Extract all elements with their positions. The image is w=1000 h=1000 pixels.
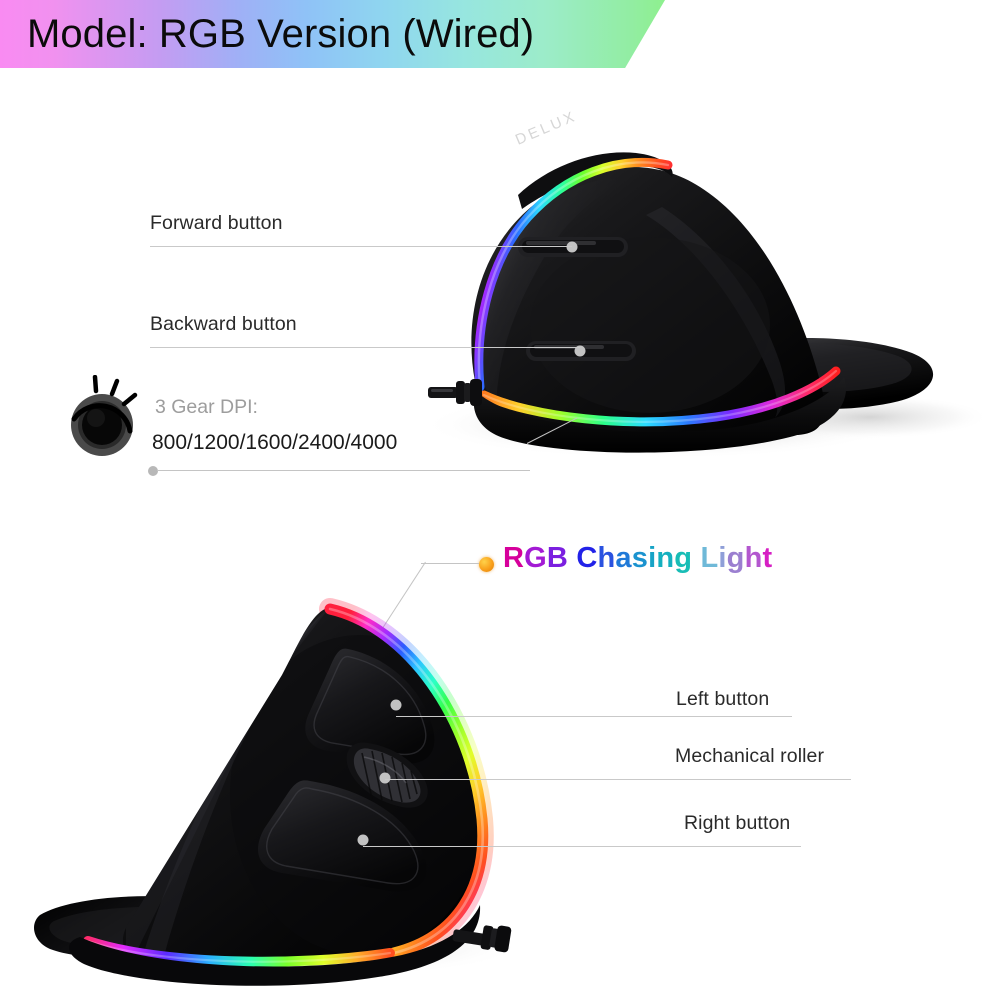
callout-label-backward-button: Backward button xyxy=(150,313,297,336)
callout-label-forward-button: Forward button xyxy=(150,212,283,235)
rgb-title-letter-3 xyxy=(568,542,576,575)
rgb-chasing-light-title: RGB Chasing Light xyxy=(503,542,772,575)
bottom-product-image xyxy=(30,585,560,985)
dpi-sensor-icon xyxy=(62,375,148,461)
callout-rule-backward-button xyxy=(150,347,580,348)
leader-dot-forward xyxy=(567,242,578,253)
callout-rule-right-button xyxy=(363,846,801,847)
rgb-title-letter-10: g xyxy=(674,542,692,575)
rgb-title-letter-6: a xyxy=(615,542,631,575)
infographic-canvas: Model: RGB Version (Wired) xyxy=(0,0,1000,1000)
top-product-image: DELUX xyxy=(400,95,960,465)
callout-rule-left-button xyxy=(396,716,792,717)
rgb-title-letter-4: C xyxy=(576,542,597,575)
leader-dot-left-button xyxy=(391,700,402,711)
rgb-title-letter-8: i xyxy=(648,542,656,575)
rgb-title-letter-12: L xyxy=(700,542,718,575)
rgb-title-letter-5: h xyxy=(598,542,616,575)
rgb-title-letter-2: B xyxy=(547,542,568,575)
rgb-title-bullet xyxy=(479,557,494,572)
leader-dot-right-button xyxy=(358,835,369,846)
rgb-title-letter-11 xyxy=(692,542,700,575)
rgb-title-letter-16: t xyxy=(763,542,773,575)
rgb-title-letter-9: n xyxy=(656,542,674,575)
leader-dot-dpi xyxy=(148,466,158,476)
callout-label-left-button: Left button xyxy=(676,688,769,711)
rgb-title-letter-14: g xyxy=(727,542,745,575)
rgb-title-letter-15: h xyxy=(745,542,763,575)
rgb-title-letter-13: i xyxy=(718,542,726,575)
leader-line-dpi-horizontal xyxy=(157,470,530,471)
callout-label-right-button: Right button xyxy=(684,812,790,835)
callout-rule-forward-button xyxy=(150,246,572,247)
page-title: Model: RGB Version (Wired) xyxy=(27,12,534,57)
rgb-title-letter-1: G xyxy=(524,542,547,575)
usb-cable-top xyxy=(428,379,482,406)
model-banner: Model: RGB Version (Wired) xyxy=(0,0,665,68)
dpi-values: 800/1200/1600/2400/4000 xyxy=(152,431,397,455)
rgb-title-letter-0: R xyxy=(503,542,524,575)
rgb-title-letter-7: s xyxy=(632,542,648,575)
callout-rule-mechanical-roller xyxy=(385,779,851,780)
callout-label-mechanical-roller: Mechanical roller xyxy=(675,745,824,768)
dpi-caption: 3 Gear DPI: xyxy=(155,396,258,419)
brand-logo-top: DELUX xyxy=(513,108,580,149)
leader-line-rgb-horizontal xyxy=(421,563,479,564)
leader-dot-mechanical-roller xyxy=(380,773,391,784)
